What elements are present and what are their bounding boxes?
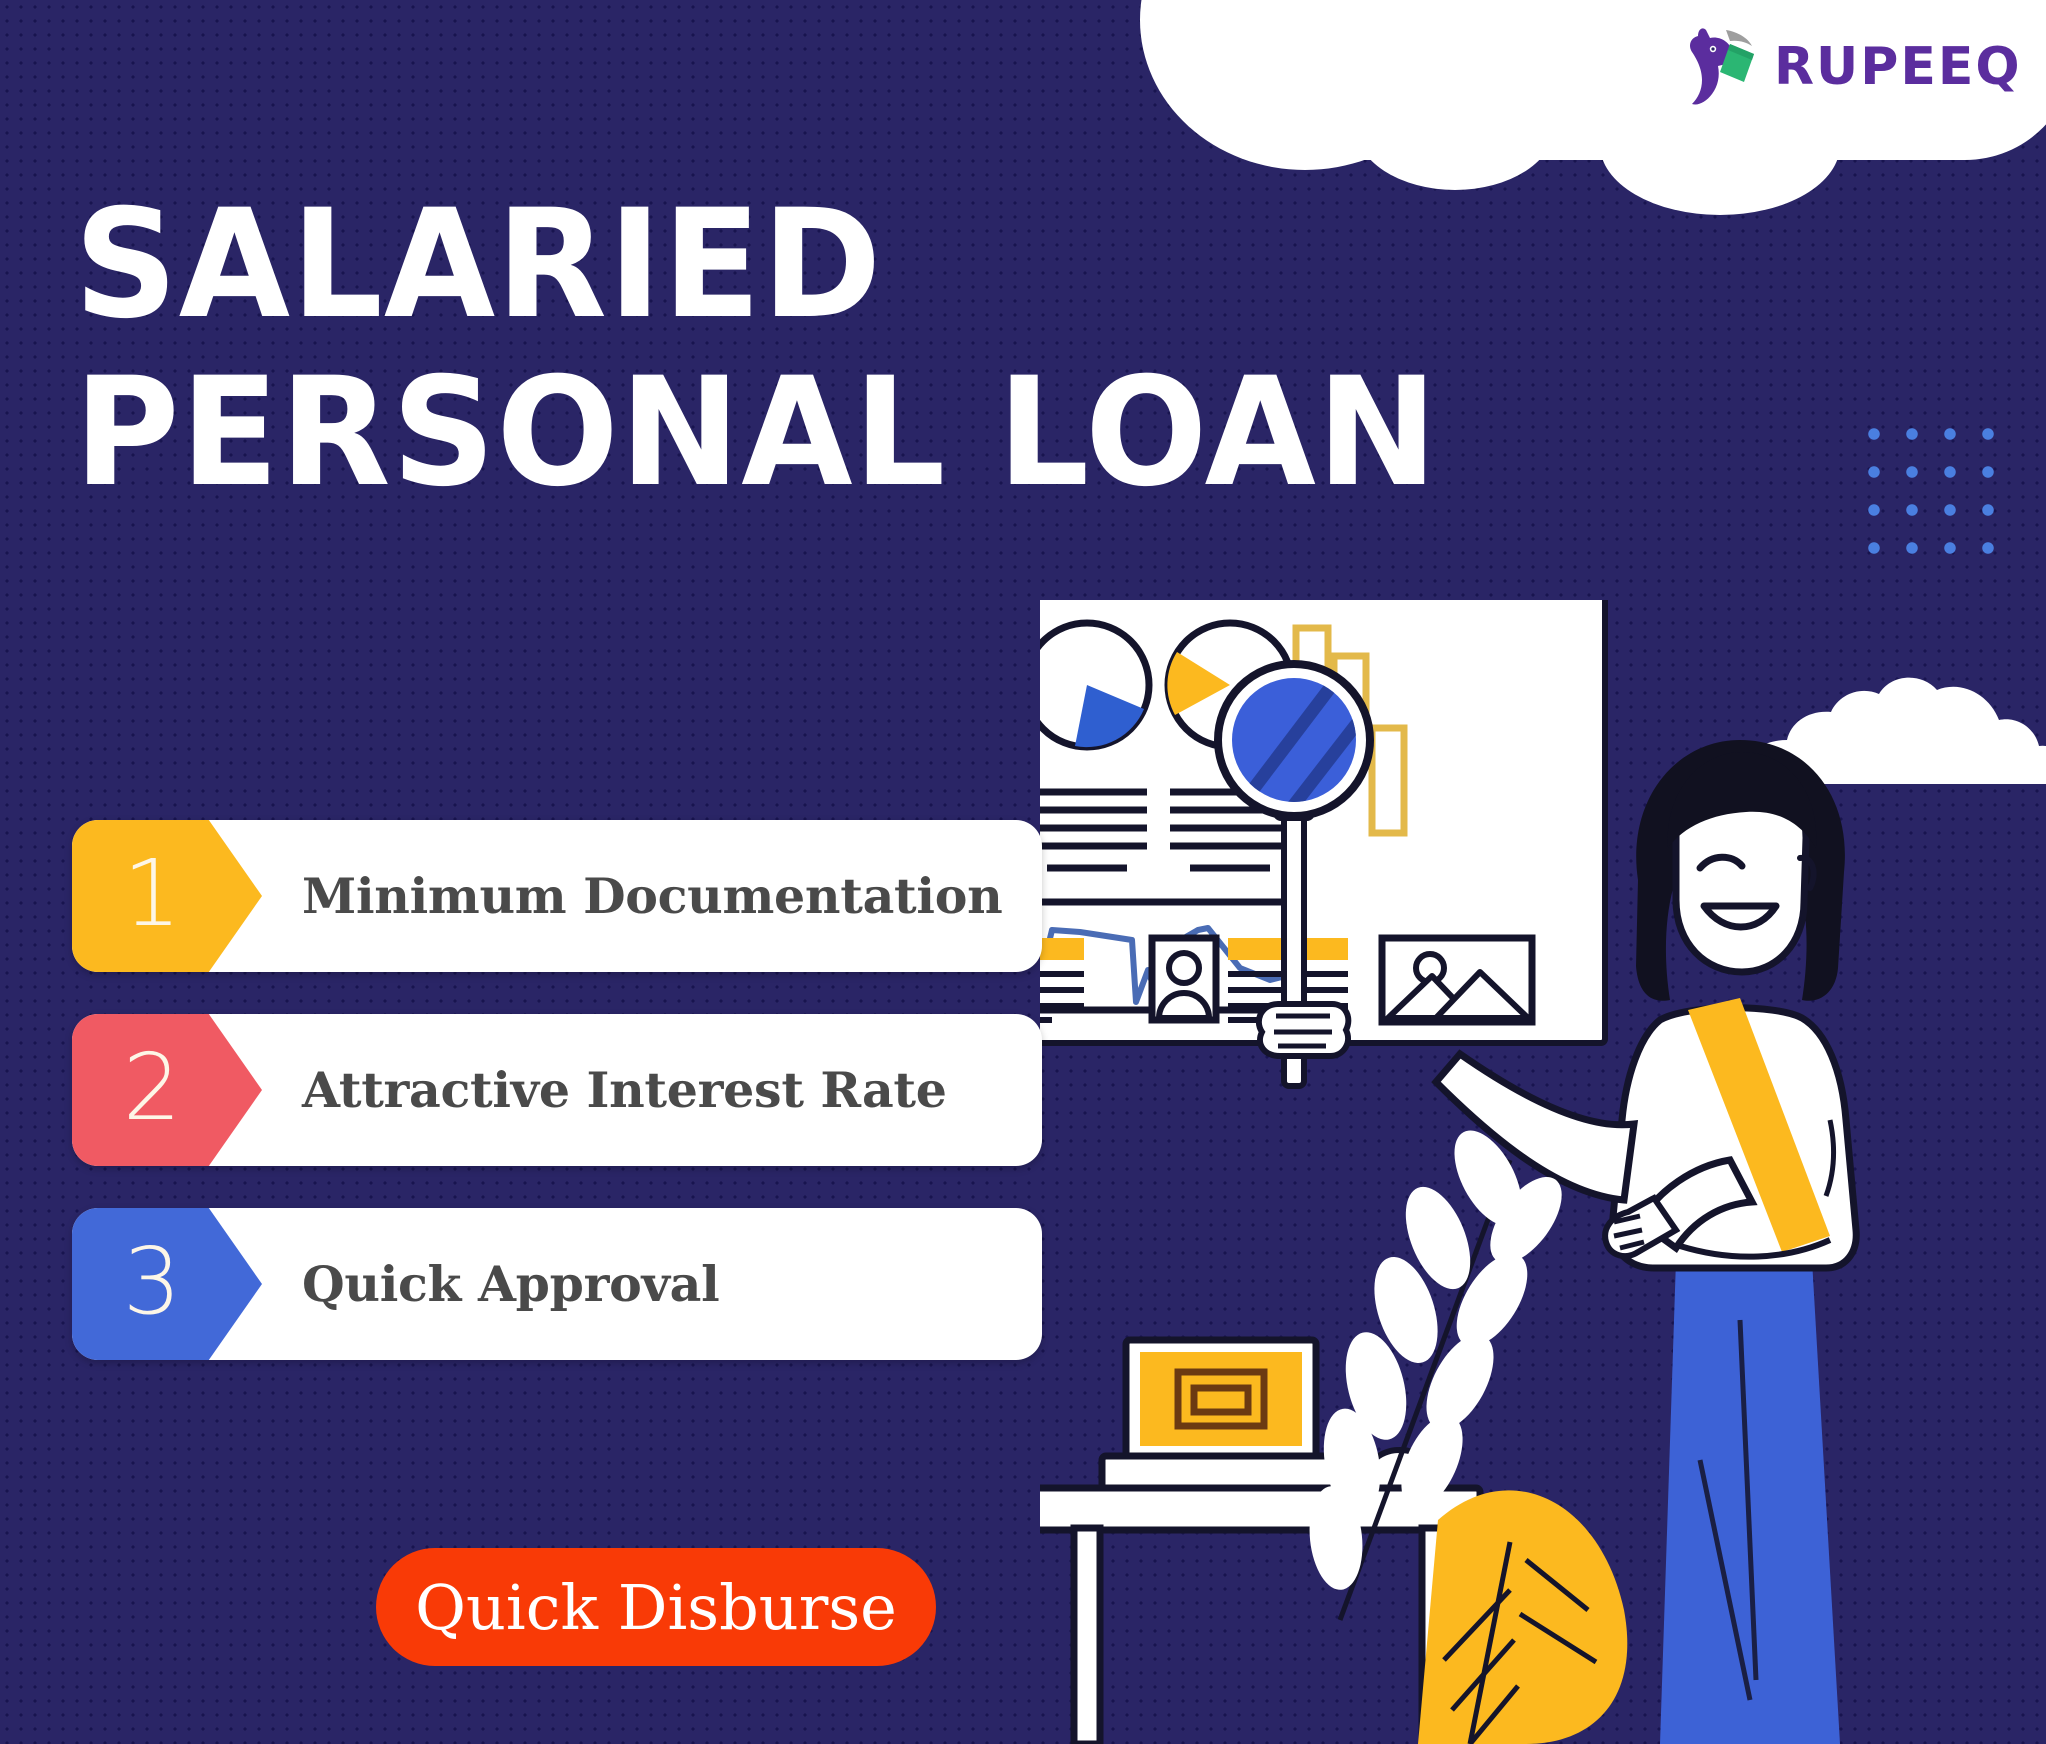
plant-decoration — [1305, 1120, 1628, 1744]
feature-badge-2: 2 — [72, 1014, 262, 1166]
page-title: SALARIED PERSONAL LOAN — [74, 190, 1374, 508]
cta-label: Quick Disburse — [415, 1571, 897, 1644]
feature-number-1: 1 — [123, 848, 182, 940]
desk-with-laptop — [1040, 1340, 1480, 1744]
person-avatar-icon-2 — [1152, 938, 1216, 1020]
feature-card-2[interactable]: 2 Attractive Interest Rate — [72, 1014, 1042, 1166]
analytics-illustration — [1040, 600, 2046, 1744]
promotional-banner: RUPEEQ SALARIED PERSONAL LOAN 1 Minimum … — [0, 0, 2046, 1744]
feature-label-2: Attractive Interest Rate — [302, 1061, 947, 1119]
feature-card-1[interactable]: 1 Minimum Documentation — [72, 820, 1042, 972]
feature-label-3: Quick Approval — [302, 1255, 719, 1313]
feature-card-3[interactable]: 3 Quick Approval — [72, 1208, 1042, 1360]
feature-badge-1: 1 — [72, 820, 262, 972]
headline-line-2: PERSONAL LOAN — [74, 358, 1322, 508]
quick-disburse-cta-button[interactable]: Quick Disburse — [376, 1548, 936, 1666]
woman-hand-grip — [1259, 1004, 1348, 1056]
feature-list: 1 Minimum Documentation 2 Attractive Int… — [72, 820, 1072, 1402]
headline-line-1: SALARIED — [74, 190, 1322, 340]
gold-leaf-decoration — [1418, 1490, 1627, 1744]
dot-grid-decoration — [1855, 415, 2005, 575]
hummingbird-card-icon — [1668, 24, 1760, 110]
image-placeholder-icon — [1382, 938, 1532, 1022]
brand-logo-text: RUPEEQ — [1774, 37, 2022, 97]
feature-number-2: 2 — [123, 1042, 182, 1134]
feature-badge-3: 3 — [72, 1208, 262, 1360]
brand-logo[interactable]: RUPEEQ — [1668, 24, 2022, 110]
laptop-screen — [1140, 1352, 1302, 1446]
header-cloud-shape — [1355, 60, 1555, 190]
feature-label-1: Minimum Documentation — [302, 867, 1002, 925]
pie-chart-2 — [1040, 623, 1149, 747]
feature-number-3: 3 — [123, 1236, 182, 1328]
desk-leg-left — [1074, 1528, 1100, 1744]
